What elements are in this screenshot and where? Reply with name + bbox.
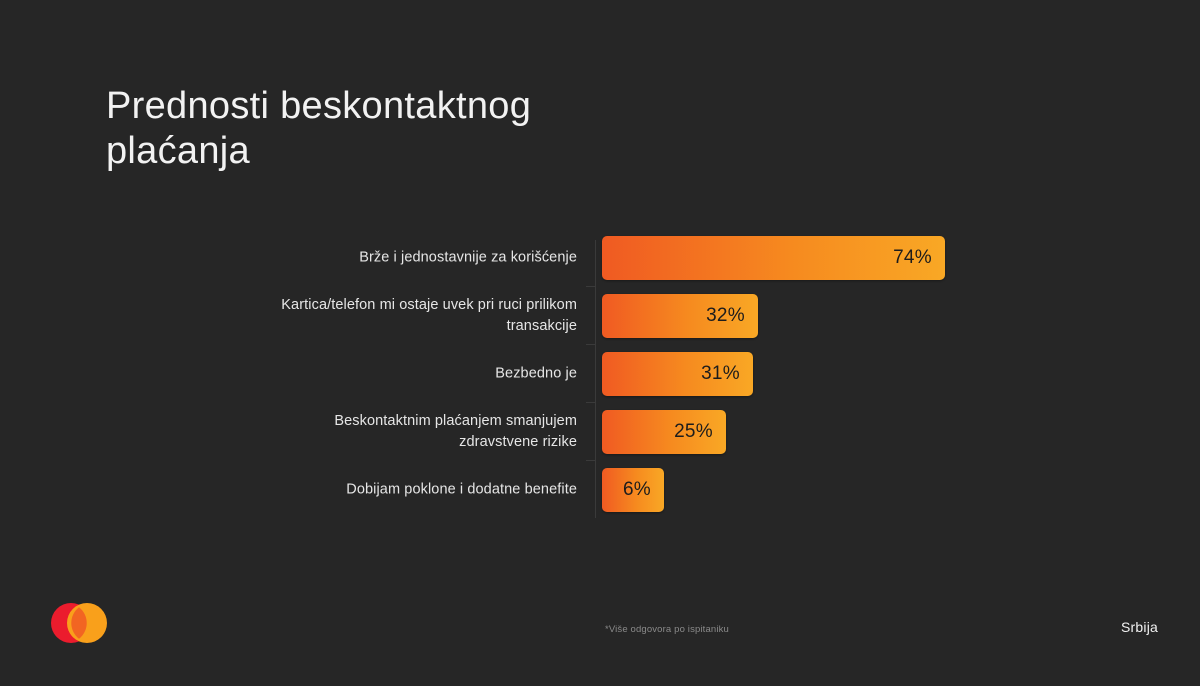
mastercard-logo xyxy=(51,603,107,643)
chart-row: Kartica/telefon mi ostaje uvek pri ruci … xyxy=(0,294,1200,338)
chart-row: Beskontaktnim plaćanjem smanjujem zdravs… xyxy=(0,410,1200,454)
bar-category-label: Kartica/telefon mi ostaje uvek pri ruci … xyxy=(177,295,577,337)
bar-category-label: Bezbedno je xyxy=(177,364,577,385)
chart-footnote: *Više odgovora po ispitaniku xyxy=(605,624,729,635)
bar[interactable]: 32% xyxy=(602,294,758,338)
chart-row: Brže i jednostavnije za korišćenje 74% xyxy=(0,236,1200,280)
bar[interactable]: 25% xyxy=(602,410,726,454)
bar-track: 32% xyxy=(602,294,1072,338)
axis-tick xyxy=(586,402,595,403)
slide: Prednosti beskontaktnog plaćanja Brže i … xyxy=(0,0,1200,686)
bar[interactable]: 74% xyxy=(602,236,945,280)
bar[interactable]: 31% xyxy=(602,352,753,396)
bar[interactable]: 6% xyxy=(602,468,664,512)
bar-track: 31% xyxy=(602,352,1072,396)
bar-category-label: Beskontaktnim plaćanjem smanjujem zdravs… xyxy=(177,411,577,453)
bar-track: 6% xyxy=(602,468,1072,512)
bar-category-label: Brže i jednostavnije za korišćenje xyxy=(177,248,577,269)
bar-value-label: 25% xyxy=(674,421,713,443)
axis-tick xyxy=(586,286,595,287)
bar-track: 25% xyxy=(602,410,1072,454)
bar-chart: Brže i jednostavnije za korišćenje 74% K… xyxy=(0,236,1200,526)
bar-track: 74% xyxy=(602,236,1072,280)
country-label: Srbija xyxy=(1121,619,1158,635)
chart-row: Bezbedno je 31% xyxy=(0,352,1200,396)
axis-tick xyxy=(586,344,595,345)
bar-rows: Brže i jednostavnije za korišćenje 74% K… xyxy=(0,236,1200,526)
bar-value-label: 6% xyxy=(623,479,651,501)
chart-row: Dobijam poklone i dodatne benefite 6% xyxy=(0,468,1200,512)
page-title: Prednosti beskontaktnog plaćanja xyxy=(106,84,726,174)
bar-value-label: 32% xyxy=(706,305,745,327)
bar-value-label: 31% xyxy=(701,363,740,385)
bar-value-label: 74% xyxy=(893,247,932,269)
axis-tick xyxy=(586,460,595,461)
bar-category-label: Dobijam poklone i dodatne benefite xyxy=(177,480,577,501)
